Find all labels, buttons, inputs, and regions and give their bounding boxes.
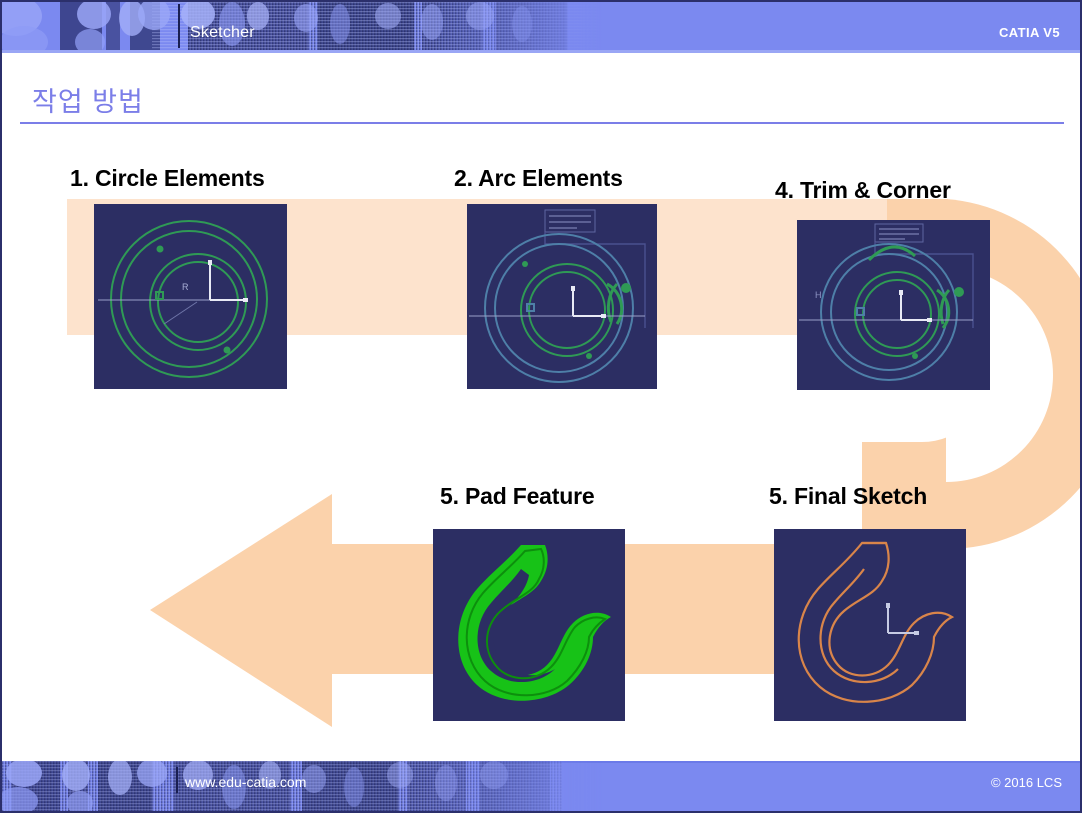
slide-footer: www.edu-catia.com © 2016 LCS — [2, 761, 1080, 811]
footer-separator — [176, 767, 178, 793]
header-pattern-svg — [2, 2, 602, 50]
step-4-label: 5. Pad Feature — [440, 483, 594, 510]
header-brand-label: CATIA V5 — [999, 25, 1060, 40]
svg-text:H: H — [815, 290, 822, 300]
step-5-label: 5. Final Sketch — [769, 483, 927, 510]
slide-header: Sketcher CATIA V5 — [2, 2, 1080, 50]
header-decoration-pattern — [2, 2, 602, 50]
cad-sketch-circles-svg: R — [94, 204, 287, 389]
step-3-label: 4. Trim & Corner — [775, 177, 951, 204]
step-1-thumbnail[interactable]: R — [94, 204, 287, 389]
step-5-thumbnail[interactable] — [774, 529, 966, 721]
page-title: 작업 방법 — [32, 80, 144, 119]
cad-final-sketch-svg — [774, 529, 966, 721]
header-underline — [2, 50, 1080, 53]
slide: Sketcher CATIA V5 작업 방법 — [0, 0, 1082, 813]
footer-copyright: © 2016 LCS — [991, 775, 1062, 790]
cad-sketch-arcs-svg — [467, 204, 657, 389]
step-4-thumbnail[interactable] — [433, 529, 625, 721]
step-2-thumbnail[interactable] — [467, 204, 657, 389]
footer-website-link[interactable]: www.edu-catia.com — [185, 774, 306, 790]
title-divider — [20, 122, 1064, 124]
header-separator — [178, 4, 180, 48]
cad-sketch-trim-svg: H — [797, 220, 990, 390]
header-title: Sketcher — [190, 24, 255, 42]
svg-text:R: R — [182, 282, 189, 292]
cad-pad-solid-svg — [433, 529, 625, 721]
step-1-label: 1. Circle Elements — [70, 165, 265, 192]
step-2-label: 2. Arc Elements — [454, 165, 623, 192]
step-3-thumbnail[interactable]: H — [797, 220, 990, 390]
